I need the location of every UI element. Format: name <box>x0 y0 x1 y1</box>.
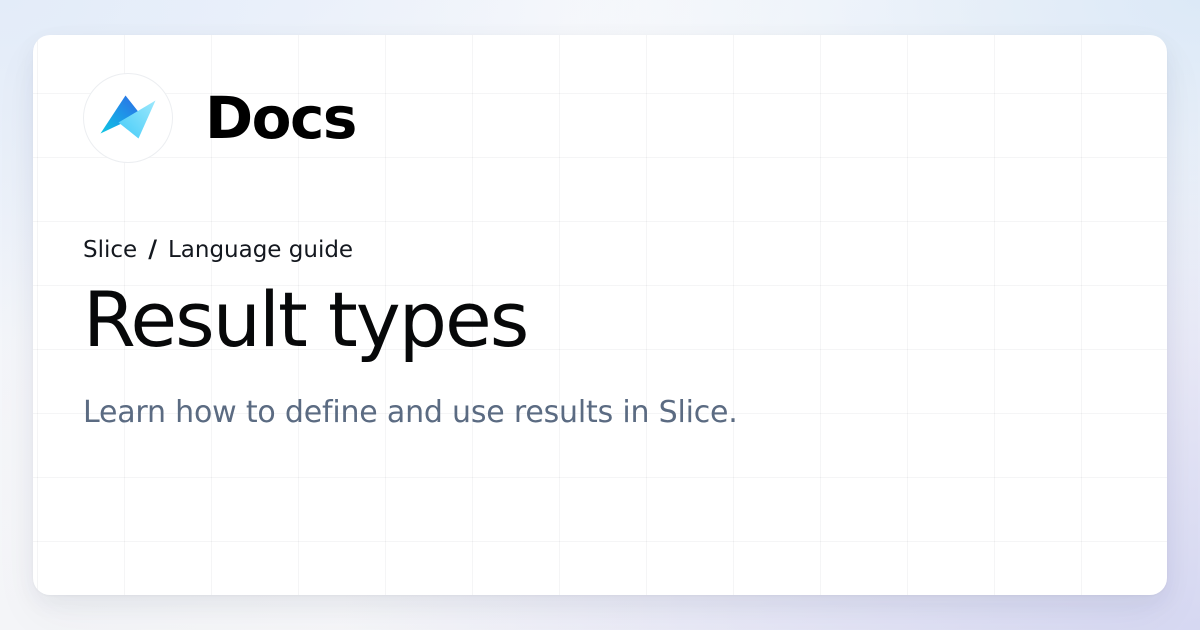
breadcrumb-item-slice[interactable]: Slice <box>83 239 137 262</box>
logo-badge <box>83 73 173 163</box>
brand-header: Docs <box>83 73 1167 163</box>
brand-name: Docs <box>205 89 356 147</box>
page-title: Result types <box>83 280 1167 360</box>
og-card-canvas: Docs Slice / Language guide Result types… <box>0 0 1200 630</box>
card-content: Docs Slice / Language guide Result types… <box>33 35 1167 431</box>
breadcrumb: Slice / Language guide <box>83 237 1167 262</box>
content-card: Docs Slice / Language guide Result types… <box>33 35 1167 595</box>
page-subtitle: Learn how to define and use results in S… <box>83 394 1167 432</box>
breadcrumb-item-language-guide[interactable]: Language guide <box>168 239 353 262</box>
breadcrumb-separator-icon: / <box>146 237 159 261</box>
slice-arrows-logo-icon <box>99 89 157 147</box>
